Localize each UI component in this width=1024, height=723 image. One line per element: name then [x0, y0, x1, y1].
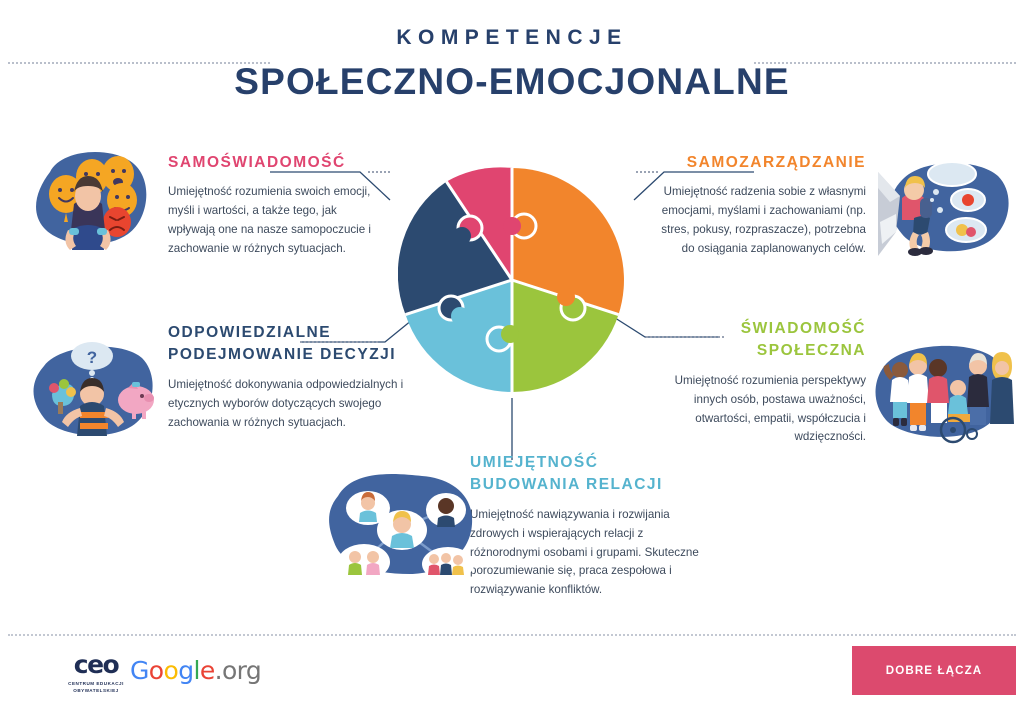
competency-self-management: SAMOZARZĄDZANIE Umiejętność radzenia sob… — [648, 152, 866, 259]
illustration-boy-choosing-toys-or-piggybank: ? — [24, 332, 164, 442]
competency-body-relationship-skills: Umiejętność nawiązywania i rozwijania zd… — [470, 506, 702, 600]
infographic-canvas: KOMPETENCJE SPOŁECZNO-EMOCJONALNE — [0, 0, 1024, 723]
illustration-climber-with-thought-bubbles — [878, 152, 1016, 257]
competency-relationship-skills: UMIEJĘTNOŚĆ BUDOWANIA RELACJI Umiejętnoś… — [470, 452, 702, 600]
competency-body-self-management: Umiejętność radzenia sobie z własnymi em… — [648, 183, 866, 258]
puzzle-wheel-diagram — [398, 166, 626, 394]
google-org-suffix: .org — [215, 656, 262, 685]
competency-title-responsible-decisions-line2: PODEJMOWANIE DECYZJI — [168, 344, 418, 366]
competency-social-awareness: ŚWIADOMOŚĆ SPOŁECZNA Umiejętność rozumie… — [648, 318, 866, 447]
competency-title-relationship-skills-line1: UMIEJĘTNOŚĆ — [470, 452, 702, 474]
google-letter-o2: o — [163, 656, 178, 685]
competency-responsible-decisions: ODPOWIEDZIALNE PODEJMOWANIE DECYZJI Umie… — [168, 322, 418, 432]
competency-title-self-awareness: SAMOŚWIADOMOŚĆ — [168, 152, 383, 174]
footer: ceo CENTRUM EDUKACJI OBYWATELSKIEJ Googl… — [0, 640, 1024, 723]
google-org-logo: Google.org — [130, 658, 261, 683]
google-letter-e: e — [200, 656, 215, 685]
competency-body-self-awareness: Umiejętność rozumienia swoich emocji, my… — [168, 183, 383, 258]
competency-self-awareness: SAMOŚWIADOMOŚĆ Umiejętność rozumienia sw… — [168, 152, 383, 259]
competency-body-social-awareness: Umiejętność rozumienia perspektywy innyc… — [648, 372, 866, 447]
illustration-network-of-connected-people — [322, 462, 482, 590]
illustration-woman-with-emotion-balloons — [24, 142, 156, 250]
dobre-lacza-badge[interactable]: DOBRE ŁĄCZA — [852, 646, 1016, 695]
competency-body-responsible-decisions: Umiejętność dokonywania odpowiedzialnych… — [168, 376, 418, 432]
google-letter-g-lower: g — [178, 656, 193, 685]
rock-wall — [878, 172, 900, 256]
footer-dotted-rule — [8, 634, 1016, 636]
ceo-subtitle-line2: OBYWATELSKIEJ — [48, 688, 144, 695]
google-letter-g-upper: G — [130, 656, 149, 685]
competency-title-responsible-decisions-line1: ODPOWIEDZIALNE — [168, 322, 418, 344]
competency-title-social-awareness-line2: SPOŁECZNA — [648, 340, 866, 362]
illustration-diverse-group-of-people — [868, 336, 1018, 448]
google-letter-o1: o — [149, 656, 164, 685]
competency-title-social-awareness-line1: ŚWIADOMOŚĆ — [648, 318, 866, 340]
svg-text:?: ? — [87, 348, 97, 367]
competency-title-self-management: SAMOZARZĄDZANIE — [648, 152, 866, 174]
badge-label: DOBRE ŁĄCZA — [886, 664, 982, 677]
competency-title-relationship-skills-line2: BUDOWANIA RELACJI — [470, 474, 702, 496]
